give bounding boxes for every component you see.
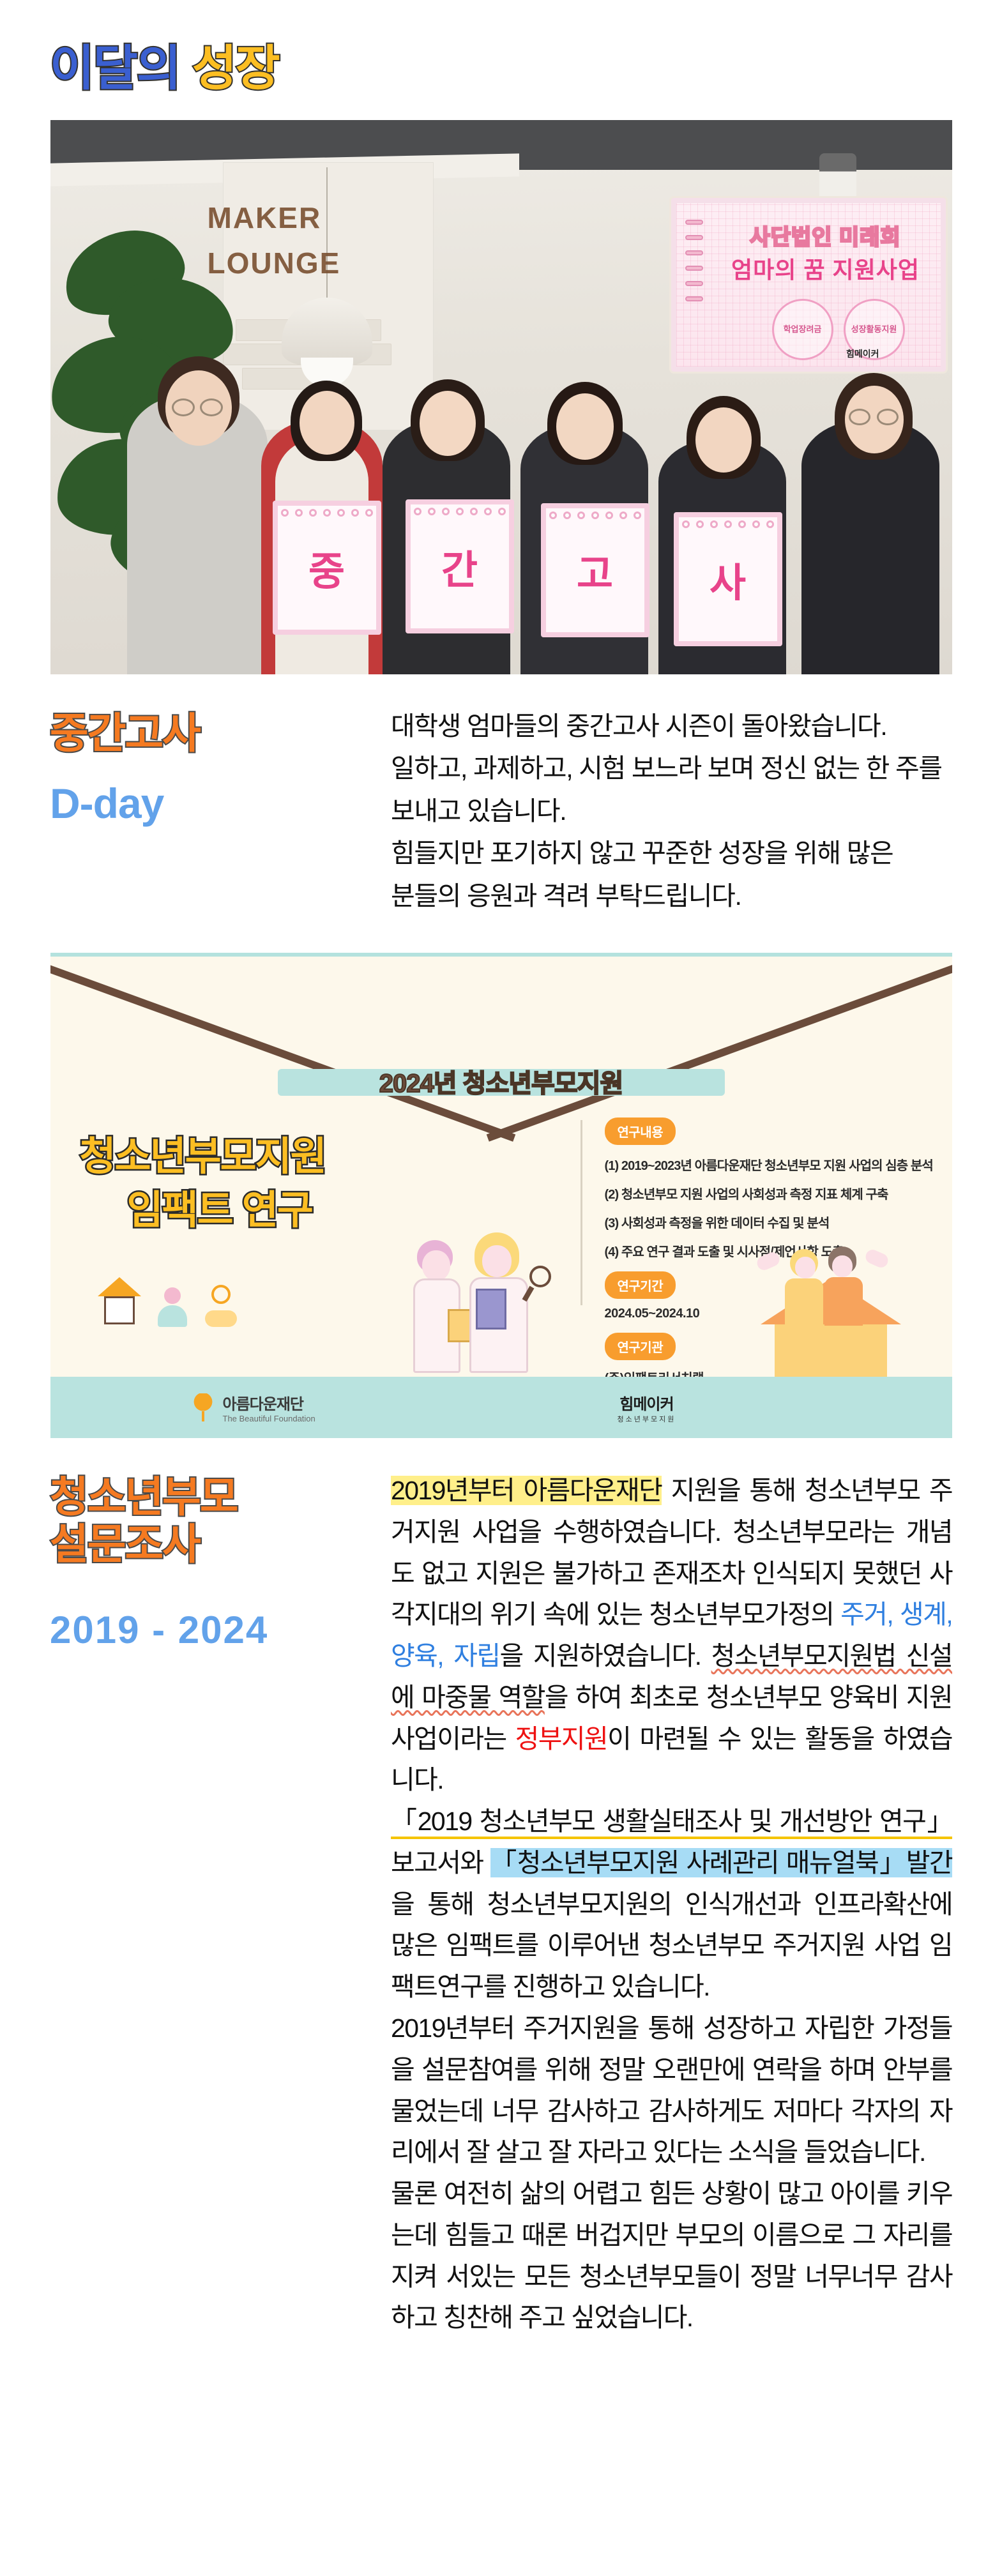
family-person2-body xyxy=(824,1277,863,1326)
house-roof-icon xyxy=(98,1277,141,1296)
card-rings xyxy=(278,508,376,517)
wall-sign-line1: MAKER xyxy=(208,195,399,241)
survey-p1-highlight-yellow: 2019년부터 아름다운재단 xyxy=(391,1476,662,1505)
survey-paragraph-3: 2019년부터 주거지원을 통해 성장하고 자립한 가정들을 설문참여를 위해 … xyxy=(391,2008,952,2173)
held-card-3-label: 고 xyxy=(577,542,613,599)
survey-paragraph-4: 물론 여전히 삶의 어렵고 힘든 상황이 많고 아이를 키우는데 힘들고 때론 … xyxy=(391,2173,952,2338)
section-survey-heading-line2: 설문조사 xyxy=(50,1521,382,1568)
poster-spiral-binding xyxy=(685,220,704,354)
survey-p2-highlight-blue: 「청소년부모지원 사례관리 매뉴얼북」발간 xyxy=(490,1848,952,1877)
person-2-head xyxy=(300,391,354,455)
survey-paragraph-1: 2019년부터 아름다운재단 지원을 통해 청소년부모 주거지원 사업을 수행하… xyxy=(391,1470,952,1801)
family-person2-face xyxy=(832,1255,853,1277)
person-5-head xyxy=(695,407,752,473)
section-survey-heading-line1: 청소년부모 xyxy=(50,1474,382,1521)
survey-p1-red-words: 정부지원 xyxy=(515,1724,607,1754)
poster-footer-band: 아름다운재단 The Beautiful Foundation 힘메이커 청소년… xyxy=(50,1377,952,1438)
poster-line2: 엄마의 꿈 지원사업 xyxy=(715,252,937,285)
person-icon-head xyxy=(164,1287,181,1304)
poster-pill-org: 연구기관 xyxy=(605,1333,676,1360)
poster-researchers-illustration xyxy=(408,1211,568,1377)
family-arm-right xyxy=(863,1248,890,1270)
held-card-1-label: 중 xyxy=(308,539,345,596)
section-survey-headings: 청소년부모 설문조사 2019 - 2024 xyxy=(50,1470,382,1652)
researcher2-face xyxy=(482,1245,512,1277)
survey-p2-underline-yellow: 「2019 청소년부모 생활실태조사 및 개선방안 연구」 xyxy=(391,1807,952,1839)
survey-p2-text-b: 을 통해 청소년부모지원의 인식개선과 인프라확산에 많은 임팩트를 이루어낸 … xyxy=(391,1890,952,2002)
held-card-4: 사 xyxy=(674,512,782,646)
footer-logo2-sub: 청소년부모지원 xyxy=(618,1414,676,1424)
poster-content-item-1: (1) 2019~2023년 아름다운재단 청소년부모 지원 사업의 심층 분석 xyxy=(605,1155,950,1174)
poster-family-illustration xyxy=(735,1217,927,1377)
person-1-glasses-right xyxy=(200,398,223,416)
footer-logo-beautiful-foundation: 아름다운재단 The Beautiful Foundation xyxy=(190,1391,315,1423)
poster-title: 2024년 청소년부모지원 xyxy=(350,1060,653,1102)
poster-title-wrap: 2024년 청소년부모지원 xyxy=(50,1060,952,1102)
page-header: 이달의 성장 xyxy=(0,0,1002,93)
footer-logo-himmaker: 힘메이커 청소년부모지원 xyxy=(618,1391,676,1424)
held-card-2: 간 xyxy=(406,499,514,633)
base-icon xyxy=(205,1310,237,1327)
person-6-glasses-right xyxy=(877,409,899,425)
card-rings xyxy=(411,507,509,516)
section-midterm-headings: 중간고사 D-day xyxy=(50,705,382,827)
footer-logo2-name: 힘메이커 xyxy=(618,1391,676,1414)
card-rings xyxy=(679,520,777,529)
family-person1-body xyxy=(785,1278,823,1326)
family-house-body-icon xyxy=(775,1324,887,1377)
poster-big-line2: 임팩트 연구 xyxy=(127,1178,312,1235)
section-midterm-paragraph-2: 일하고, 과제하고, 시험 보느라 보며 정신 없는 한 주를 보내고 있습니다… xyxy=(391,747,952,832)
tree-icon xyxy=(190,1393,216,1421)
card-rings xyxy=(546,511,644,520)
section-survey-body: 2019년부터 아름다운재단 지원을 통해 청소년부모 주거지원 사업을 수행하… xyxy=(391,1470,952,2338)
poster-top-line xyxy=(50,953,952,957)
footer-logo1-sub: The Beautiful Foundation xyxy=(223,1414,315,1423)
poster-vertical-divider xyxy=(581,1120,582,1305)
person-6-glasses-left xyxy=(849,409,870,425)
poster-line1: 사단법인 미래회 xyxy=(715,220,937,251)
section-midterm-paragraph-1: 대학생 엄마들의 중간고사 시즌이 돌아왔습니다. xyxy=(391,705,952,747)
person-4-head xyxy=(556,393,614,460)
section-midterm-heading-dday: D-day xyxy=(50,780,382,827)
survey-p2-text-a: 보고서와 xyxy=(391,1848,490,1877)
held-card-2-label: 간 xyxy=(441,538,478,595)
held-card-3: 고 xyxy=(541,503,649,637)
section-midterm: 중간고사 D-day 대학생 엄마들의 중간고사 시즌이 돌아왔습니다. 일하고… xyxy=(0,674,1002,917)
researcher1-face xyxy=(422,1250,450,1281)
held-card-1: 중 xyxy=(273,501,381,635)
footer-logo1-name: 아름다운재단 xyxy=(223,1391,315,1414)
ring-icon xyxy=(211,1285,231,1304)
poster-big-line1: 청소년부모지원 xyxy=(80,1124,326,1181)
wall-sign-line2: LOUNGE xyxy=(208,241,399,286)
family-arm-left xyxy=(755,1250,782,1273)
person-1-glasses-left xyxy=(172,398,195,416)
photo-midterm-group: MAKER LOUNGE 사단법인 미래회 엄마의 꿈 지원사업 학업장려금 성… xyxy=(50,120,952,674)
clipboard-icon xyxy=(476,1289,506,1330)
house-body-icon xyxy=(104,1296,135,1324)
section-midterm-heading-orange: 중간고사 xyxy=(50,710,382,757)
survey-paragraph-2: 「2019 청소년부모 생활실태조사 및 개선방안 연구」보고서와 「청소년부모… xyxy=(391,1801,952,2008)
survey-p1-text-b: 을 지원하였습니다. xyxy=(499,1641,711,1671)
poster-pill-period: 연구기간 xyxy=(605,1271,676,1299)
poster-pill-content: 연구내용 xyxy=(605,1118,676,1145)
page-title-part2: 성장 xyxy=(192,42,279,96)
held-card-4-label: 사 xyxy=(710,550,746,608)
person-3-head xyxy=(420,391,476,456)
magnifier-icon xyxy=(529,1266,551,1287)
poster-community-icons xyxy=(86,1259,278,1349)
family-person1-face xyxy=(795,1257,816,1278)
section-survey: 청소년부모 설문조사 2019 - 2024 2019년부터 아름다운재단 지원… xyxy=(0,1438,1002,2390)
wall-poster-mom-dream: 사단법인 미래회 엄마의 꿈 지원사업 학업장려금 성장활동지원 힘메이커 xyxy=(671,198,946,372)
poster-logo-himmaker: 힘메이커 xyxy=(846,347,879,360)
section-midterm-body: 대학생 엄마들의 중간고사 시즌이 돌아왔습니다. 일하고, 과제하고, 시험 … xyxy=(391,705,952,917)
research-poster-image: 2024년 청소년부모지원 청소년부모지원 임팩트 연구 연구내용 (1) 20… xyxy=(50,953,952,1438)
page-title-part1: 이달의 xyxy=(50,42,180,96)
page-title: 이달의 성장 xyxy=(50,45,1002,93)
section-survey-years: 2019 - 2024 xyxy=(50,1608,382,1652)
poster-content-item-2: (2) 청소년부모 지원 사업의 사회성과 측정 지표 체계 구축 xyxy=(605,1184,950,1202)
person-icon-body xyxy=(158,1305,187,1327)
poster-badge-scholarship: 학업장려금 xyxy=(772,299,833,360)
wall-sign-maker-lounge: MAKER LOUNGE xyxy=(208,195,399,387)
section-midterm-paragraph-3: 힘들지만 포기하지 않고 꾸준한 성장을 위해 많은 분들의 응원과 격려 부탁… xyxy=(391,832,952,917)
